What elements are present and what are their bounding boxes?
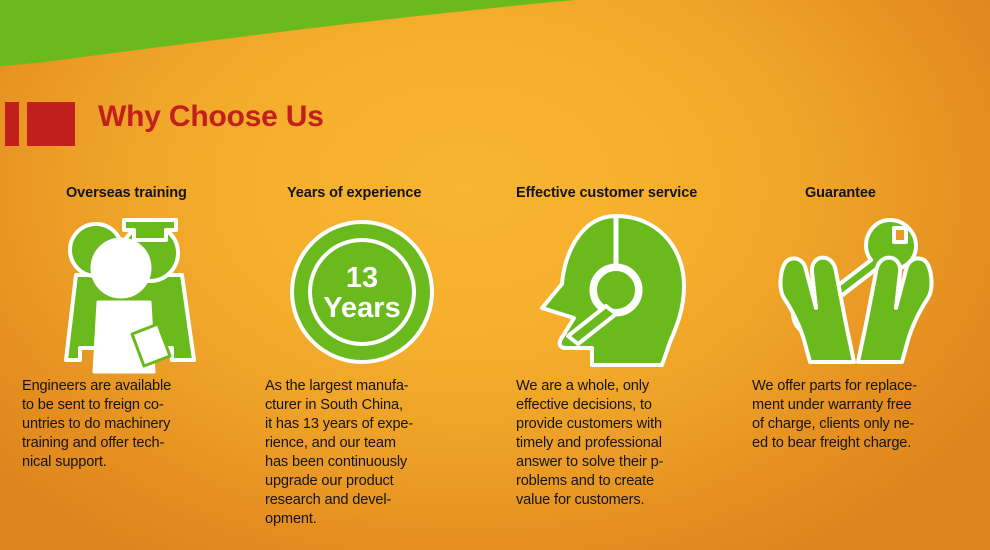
page-title: Why Choose Us bbox=[98, 100, 324, 134]
column-heading: Overseas training bbox=[22, 185, 237, 207]
headset-support-head-icon bbox=[530, 210, 700, 375]
column-icon bbox=[516, 207, 726, 377]
column-icon: 13 Years bbox=[265, 207, 480, 377]
column-heading: Years of experience bbox=[265, 185, 480, 207]
column-icon bbox=[22, 207, 237, 377]
hands-holding-wrench-icon bbox=[766, 212, 946, 372]
badge-unit: Years bbox=[323, 292, 400, 324]
years-badge-circle-icon: 13 Years bbox=[287, 217, 437, 367]
column-body-text: We offer parts for replace- ment under w… bbox=[752, 377, 977, 453]
column-heading: Effective customer service bbox=[516, 185, 726, 207]
green-diagonal-band bbox=[0, 0, 620, 80]
badge-number: 13 bbox=[346, 262, 378, 294]
column-icon bbox=[752, 207, 977, 377]
column-body-text: We are a whole, only effective decisions… bbox=[516, 377, 726, 510]
feature-column-years-of-experience: Years of experience 13 Years As the larg… bbox=[265, 185, 480, 529]
infographic-banner: Why Choose Us Overseas training bbox=[0, 0, 990, 550]
red-bar-small-icon bbox=[5, 102, 19, 146]
column-body-text: Engineers are available to be sent to fr… bbox=[22, 377, 237, 472]
column-heading: Guarantee bbox=[752, 185, 977, 207]
column-body-text: As the largest manufa- cturer in South C… bbox=[265, 377, 480, 529]
people-graduation-training-icon bbox=[54, 210, 219, 375]
feature-column-guarantee: Guarantee We offer parts for replace- me… bbox=[752, 185, 977, 453]
red-bar-large-icon bbox=[27, 102, 75, 146]
feature-column-overseas-training: Overseas training bbox=[22, 185, 237, 472]
feature-column-effective-customer-service: Effective customer service We bbox=[516, 185, 726, 510]
page-header: Why Choose Us bbox=[0, 98, 990, 154]
